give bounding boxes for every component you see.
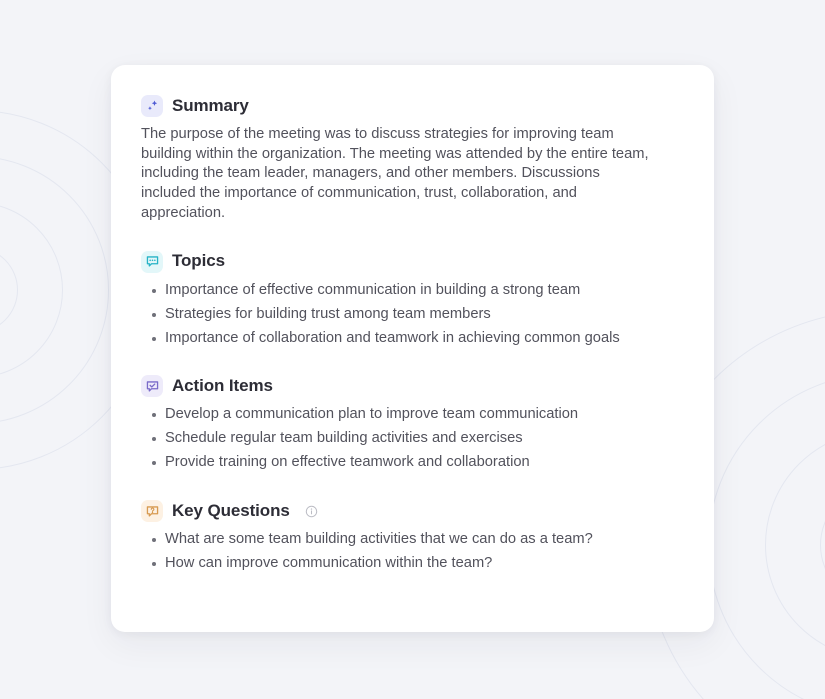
section-key-questions: Key Questions What are some team buildin… — [141, 500, 684, 574]
info-circle-icon[interactable] — [305, 505, 318, 518]
speech-bubble-check-icon — [141, 375, 163, 397]
speech-bubble-dots-icon — [141, 251, 163, 273]
speech-bubble-question-icon — [141, 500, 163, 522]
section-summary: Summary The purpose of the meeting was t… — [141, 95, 684, 224]
action-items-list: Develop a communication plan to improve … — [141, 405, 671, 473]
section-header: Summary — [141, 95, 684, 117]
list-item: Importance of effective communication in… — [165, 281, 671, 305]
sparkle-icon — [141, 95, 163, 117]
decorative-ring — [0, 156, 109, 424]
list-item: What are some team building activities t… — [165, 530, 671, 554]
topics-list: Importance of effective communication in… — [141, 281, 671, 349]
key-questions-list: What are some team building activities t… — [141, 530, 671, 574]
section-action-items: Action Items Develop a communication pla… — [141, 375, 684, 473]
section-topics: Topics Importance of effective communica… — [141, 251, 684, 349]
section-title: Summary — [172, 96, 249, 116]
decorative-ring — [708, 373, 825, 699]
meeting-notes-card: Summary The purpose of the meeting was t… — [111, 65, 714, 632]
list-item: Schedule regular team building activitie… — [165, 429, 671, 453]
section-header: Key Questions — [141, 500, 684, 522]
page-root: { "theme": { "page_background": "#f3f4f8… — [0, 0, 825, 699]
decorative-ring — [0, 247, 18, 333]
decorative-ring — [0, 202, 63, 378]
section-title: Action Items — [172, 376, 273, 396]
list-item: Strategies for building trust among team… — [165, 305, 671, 329]
list-item: Develop a communication plan to improve … — [165, 405, 671, 429]
decorative-ring — [820, 485, 825, 605]
summary-paragraph: The purpose of the meeting was to discus… — [141, 125, 661, 224]
section-title: Key Questions — [172, 501, 290, 521]
section-header: Topics — [141, 251, 684, 273]
section-header: Action Items — [141, 375, 684, 397]
section-title: Topics — [172, 251, 225, 271]
list-item: How can improve communication within the… — [165, 554, 671, 574]
decorative-ring — [765, 430, 825, 660]
list-item: Importance of collaboration and teamwork… — [165, 329, 671, 349]
list-item: Provide training on effective teamwork a… — [165, 453, 671, 473]
